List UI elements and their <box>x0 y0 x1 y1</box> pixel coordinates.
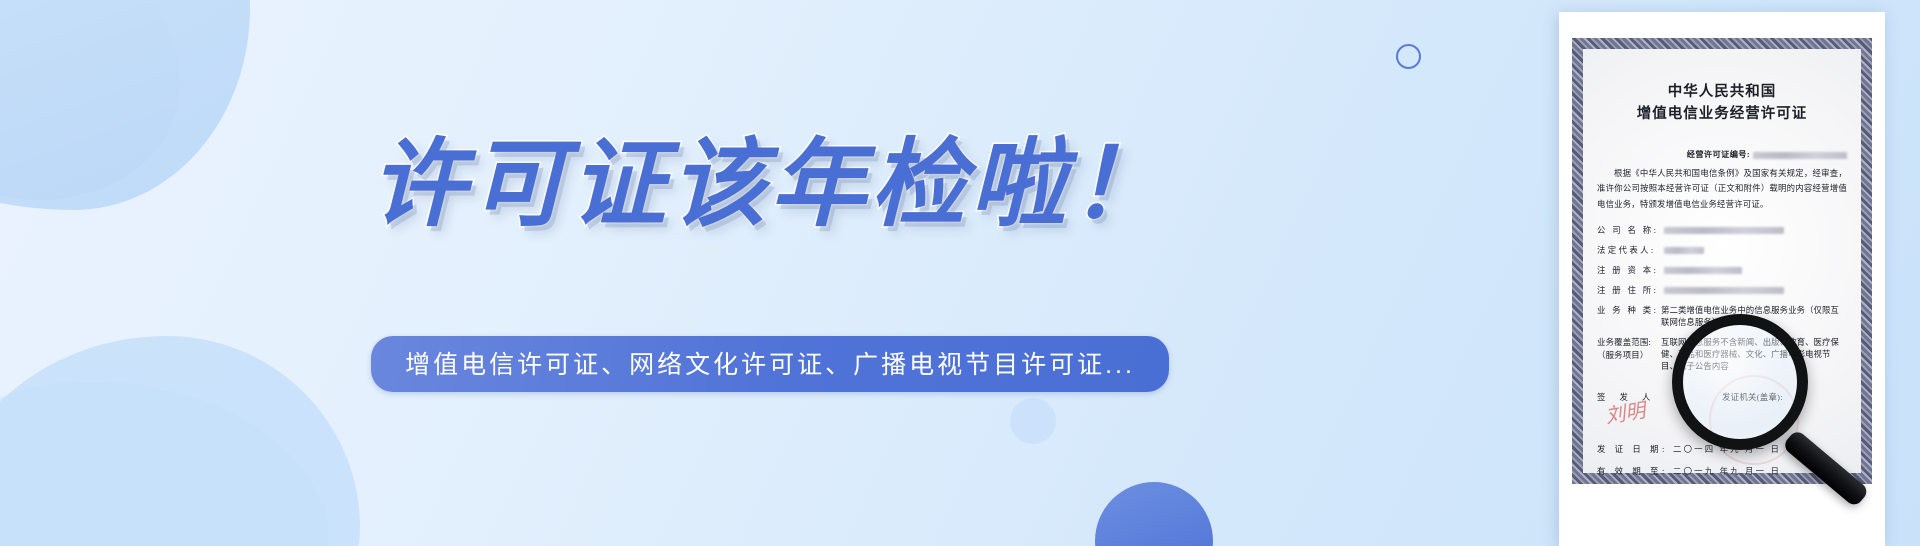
certificate-title-line2: 增值电信业务经营许可证 <box>1597 103 1847 125</box>
subtitle-container: 增值电信许可证、网络文化许可证、广播电视节目许可证... <box>0 336 1540 392</box>
subtitle-pill: 增值电信许可证、网络文化许可证、广播电视节目许可证... <box>371 336 1169 392</box>
certificate-title-line1: 中华人民共和国 <box>1597 81 1847 103</box>
redacted-value <box>1664 267 1742 274</box>
ring-circle-icon <box>1396 44 1421 69</box>
expiry-date-value: 二〇一九 年九 月一 日 <box>1673 465 1847 477</box>
field-value <box>1661 285 1847 297</box>
business-scope-sublabel: （服务项目） <box>1597 351 1648 360</box>
business-scope-value: 互联网信息服务不含新闻、出版、教育、医疗保健、药品和医疗器械、文化、广播电影电视… <box>1661 337 1847 374</box>
field-label: 公 司 名 称: <box>1597 225 1661 238</box>
redacted-value <box>1664 227 1784 234</box>
certificate-license-number: 经营许可证编号: <box>1597 148 1847 160</box>
redacted-value <box>1664 287 1784 294</box>
soft-dot-icon <box>1010 398 1056 444</box>
official-stamp-icon <box>1709 375 1799 465</box>
field-row: 公 司 名 称: <box>1597 225 1847 238</box>
field-label: 注 册 资 本: <box>1597 265 1661 278</box>
license-number-label: 经营许可证编号: <box>1687 150 1750 159</box>
certificate-signature-row: 签 发 人 发证机关(盖章): 刘明 <box>1597 391 1847 403</box>
field-value <box>1661 225 1847 237</box>
field-label: 注 册 住 所: <box>1597 285 1661 298</box>
certificate-paragraph: 根据《中华人民共和国电信条例》及国家有关规定，经审查，准许你公司按照本经营许可证… <box>1597 166 1847 213</box>
business-scope-label: 业务覆盖范围: （服务项目） <box>1597 337 1661 362</box>
headline-container: 许可证该年检啦！ <box>0 130 1540 240</box>
redacted-value <box>1664 247 1704 254</box>
field-row: 注 册 住 所: <box>1597 285 1847 298</box>
banner-headline: 许可证该年检啦！ <box>370 130 1170 240</box>
promo-banner: 许可证该年检啦！ 增值电信许可证、网络文化许可证、广播电视节目许可证... 中华… <box>0 0 1920 546</box>
business-type-row: 业 务 种 类: 第二类增值电信业务中的信息服务业务（仅限互联网信息服务） <box>1597 305 1847 329</box>
field-label: 法定代表人: <box>1597 245 1661 258</box>
field-value <box>1661 265 1847 277</box>
business-scope-label-main: 业务覆盖范围: <box>1597 338 1651 347</box>
handwritten-signature-icon: 刘明 <box>1603 395 1647 430</box>
field-row: 注 册 资 本: <box>1597 265 1847 278</box>
certificate-border: 中华人民共和国 增值电信业务经营许可证 经营许可证编号: 根据《中华人民共和国电… <box>1572 38 1872 484</box>
field-value <box>1661 245 1847 257</box>
business-scope-row: 业务覆盖范围: （服务项目） 互联网信息服务不含新闻、出版、教育、医疗保健、药品… <box>1597 337 1847 374</box>
certificate-fields: 公 司 名 称: 法定代表人: 注 册 资 本: 注 册 住 所: <box>1597 225 1847 374</box>
business-type-value: 第二类增值电信业务中的信息服务业务（仅限互联网信息服务） <box>1661 305 1847 329</box>
expiry-date-label: 有 效 期 至: <box>1597 465 1673 477</box>
field-row: 法定代表人: <box>1597 245 1847 258</box>
solid-circle-icon <box>1095 482 1213 546</box>
expiry-date-row: 有 效 期 至: 二〇一九 年九 月一 日 <box>1597 465 1847 477</box>
certificate-body: 中华人民共和国 增值电信业务经营许可证 经营许可证编号: 根据《中华人民共和国电… <box>1583 49 1861 473</box>
issue-date-label: 发 证 日 期: <box>1597 443 1673 455</box>
redacted-value <box>1753 152 1847 159</box>
business-type-label: 业 务 种 类: <box>1597 305 1661 318</box>
wave-back-icon <box>0 381 330 546</box>
certificate-card: 中华人民共和国 增值电信业务经营许可证 经营许可证编号: 根据《中华人民共和国电… <box>1559 12 1885 546</box>
certificate-title: 中华人民共和国 增值电信业务经营许可证 <box>1597 81 1847 126</box>
